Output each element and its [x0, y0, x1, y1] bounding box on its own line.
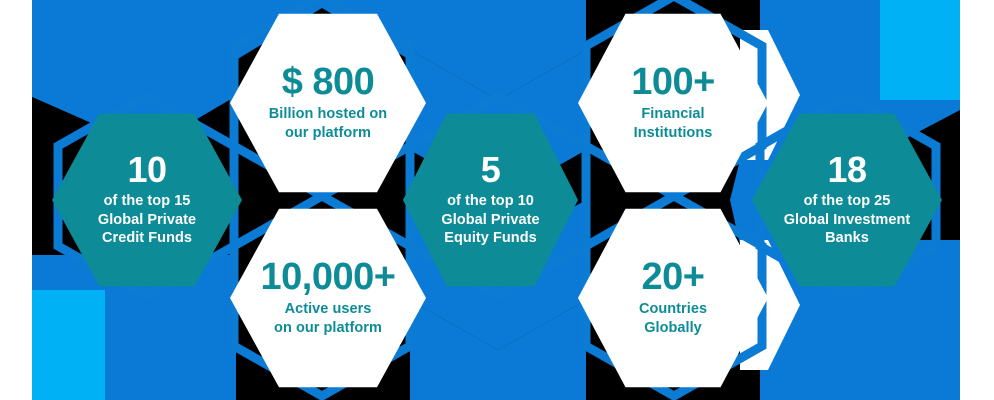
stat-description: of the top 15 Global Private Credit Fund… [98, 192, 196, 248]
white-edge-left-top [0, 0, 32, 400]
stat-line: our platform [269, 124, 387, 143]
stat-line: Globally [639, 319, 707, 338]
stat-line: Billion hosted on [269, 105, 387, 124]
stat-line: Active users [274, 300, 382, 319]
stat-description: Active users on our platform [274, 300, 382, 337]
stat-number: $ 800 [282, 63, 375, 101]
stat-line: Banks [784, 229, 911, 248]
stat-line: Countries [639, 300, 707, 319]
stat-number: 20+ [642, 258, 705, 296]
stat-line: Global Private [441, 211, 539, 230]
stat-line: of the top 15 [98, 192, 196, 211]
stat-line: Financial [634, 105, 713, 124]
stat-number: 18 [827, 152, 866, 188]
stat-number: 5 [481, 152, 501, 188]
stat-description: of the top 10 Global Private Equity Fund… [441, 192, 539, 248]
stat-description: Financial Institutions [634, 105, 713, 142]
lightblue-hex-topright [880, 0, 960, 100]
stat-number: 10 [127, 152, 166, 188]
stat-description: Billion hosted on our platform [269, 105, 387, 142]
stat-line: of the top 10 [441, 192, 539, 211]
stat-line: of the top 25 [784, 192, 911, 211]
white-edge-right [960, 0, 994, 400]
stat-description: of the top 25 Global Investment Banks [784, 192, 911, 248]
stat-line: Equity Funds [441, 229, 539, 248]
stat-description: Countries Globally [639, 300, 707, 337]
stat-number: 10,000+ [261, 258, 396, 296]
stat-line: Global Private [98, 211, 196, 230]
infographic-canvas: 10 of the top 15 Global Private Credit F… [0, 0, 994, 400]
lightblue-hex-bottomleft [30, 290, 105, 400]
stat-number: 100+ [631, 63, 715, 101]
stat-line: Global Investment [784, 211, 911, 230]
stat-line: on our platform [274, 319, 382, 338]
stat-line: Institutions [634, 124, 713, 143]
stat-line: Credit Funds [98, 229, 196, 248]
